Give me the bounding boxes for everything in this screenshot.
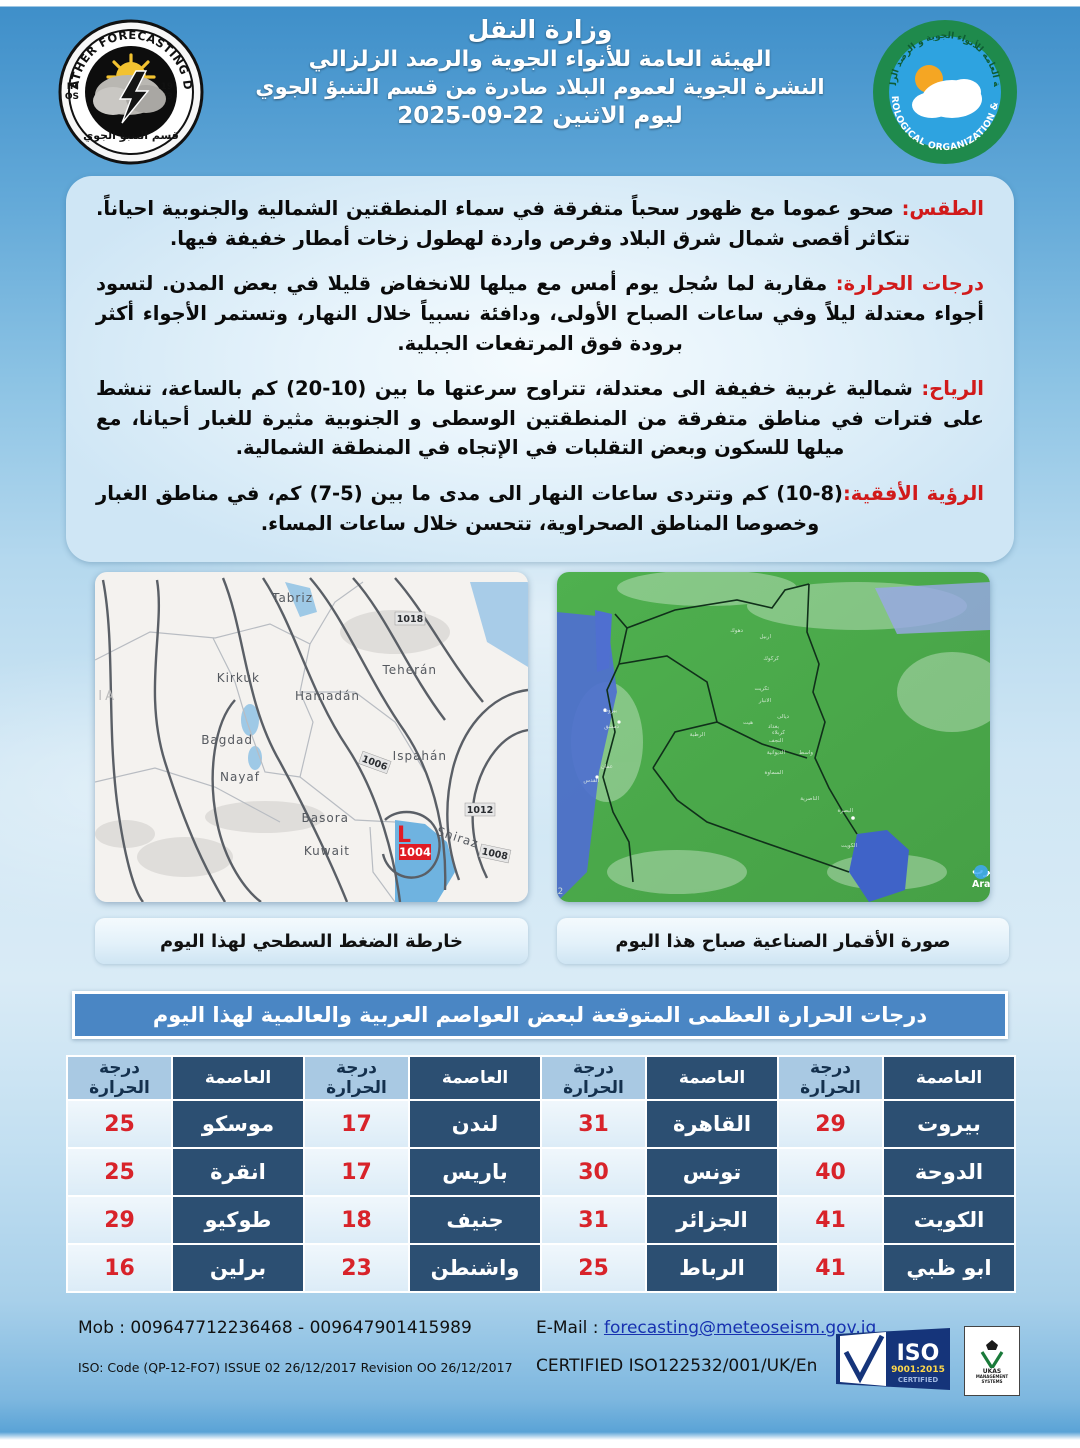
- svg-text:كركوك: كركوك: [763, 655, 779, 662]
- forecast-wind-label: الرياح:: [921, 377, 984, 400]
- forecast-temperature-label: درجات الحرارة:: [836, 272, 984, 295]
- cell-city: واشنطن: [409, 1244, 541, 1292]
- map-region-siria: SIRIA: [95, 689, 117, 704]
- bulletin-page: WEATHER FORECASTING DEPT. IM OS 19 23: [0, 0, 1080, 1448]
- svg-text:الناصرية: الناصرية: [800, 796, 819, 802]
- iso-badge-top: ISO: [897, 1341, 940, 1366]
- cell-city: الدوحة: [883, 1148, 1015, 1196]
- forecast-weather-label: الطقس:: [902, 197, 984, 220]
- isobar-label-1018: 1018: [397, 614, 424, 625]
- cell-city: القاهرة: [646, 1100, 778, 1148]
- cell-city: الجزائر: [646, 1196, 778, 1244]
- cell-temp: 25: [67, 1148, 172, 1196]
- map-city-bagdad: Bagdad: [201, 733, 253, 747]
- forecast-visibility-text: (8-10) كم وتتردى ساعات النهار الى مدى ما…: [96, 482, 843, 535]
- map-city-basora: Basora: [302, 811, 349, 825]
- svg-text:الانبار: الانبار: [758, 698, 772, 704]
- forecast-visibility-paragraph: الرؤية الأفقية:(8-10) كم وتتردى ساعات ال…: [96, 479, 984, 538]
- iso-badge-mid: 9001:2015: [891, 1365, 945, 1375]
- svg-text:الديوانية: الديوانية: [767, 750, 786, 756]
- satellite-image: دهوكاربيل كركوكتكريت الانبارديالى هيتبغد…: [557, 572, 990, 902]
- table-row: الدوحة 40 تونس 30 باريس 17 انقرة 25: [67, 1148, 1015, 1196]
- page-header: WEATHER FORECASTING DEPT. IM OS 19 23: [0, 7, 1080, 173]
- cell-city: برلين: [172, 1244, 304, 1292]
- cell-temp: 17: [304, 1148, 409, 1196]
- forecast-weather-text: صحو عموما مع ظهور سحباً متفرقة في سماء ا…: [96, 197, 910, 250]
- svg-text:ArabiaWeather: ArabiaWeather: [972, 879, 990, 890]
- cell-temp: 16: [67, 1244, 172, 1292]
- email-label: E-Mail :: [536, 1318, 604, 1338]
- authority-title: الهيئة العامة للأنواء الجوية والرصد الزل…: [215, 47, 865, 72]
- temperature-table-title: درجات الحرارة العظمى المتوقعة لبعض العوا…: [72, 991, 1008, 1039]
- forecast-text-panel: الطقس: صحو عموما مع ظهور سحباً متفرقة في…: [66, 176, 1014, 562]
- cell-temp: 31: [541, 1100, 646, 1148]
- cell-temp: 31: [541, 1196, 646, 1244]
- svg-text:الكويت: الكويت: [841, 842, 857, 849]
- cell-temp: 18: [304, 1196, 409, 1244]
- header-temp-4: درجة الحرارة: [67, 1056, 172, 1100]
- isobar-label-1012: 1012: [467, 805, 493, 816]
- svg-text:هيت: هيت: [743, 720, 753, 726]
- forecast-visibility-label: الرؤية الأفقية:: [843, 482, 984, 505]
- cell-city: الكويت: [883, 1196, 1015, 1244]
- cell-temp: 29: [778, 1100, 883, 1148]
- svg-text:البصرة: البصرة: [837, 808, 853, 814]
- svg-text:دمشق: دمشق: [604, 724, 619, 730]
- svg-text:الرطبة: الرطبة: [690, 732, 706, 738]
- satellite-image-caption: صورة الأقمار الصناعية صباح هذا اليوم: [557, 918, 1009, 964]
- ukas-label-bottom: MANAGEMENT SYSTEMS: [965, 1375, 1019, 1385]
- header-temp-2: درجة الحرارة: [541, 1056, 646, 1100]
- forecast-temperature-paragraph: درجات الحرارة: مقاربة لما سُجل يوم أمس م…: [96, 269, 984, 358]
- ministry-title: وزارة النقل: [215, 15, 865, 44]
- weather-forecasting-dept-seal-icon: WEATHER FORECASTING DEPT. IM OS 19 23: [58, 19, 204, 165]
- cell-city: ابو ظبي: [883, 1244, 1015, 1292]
- low-pressure-value: 1004: [399, 845, 431, 859]
- ukas-badge-icon: UKAS MANAGEMENT SYSTEMS: [964, 1326, 1020, 1396]
- arabiaweather-watermark: طقس العرب ArabiaWeather: [972, 863, 990, 890]
- svg-text:19: 19: [160, 82, 173, 92]
- svg-text:اربيل: اربيل: [759, 634, 771, 640]
- header-temp-3: درجة الحرارة: [304, 1056, 409, 1100]
- cell-city: انقرة: [172, 1148, 304, 1196]
- cell-temp: 30: [541, 1148, 646, 1196]
- map-city-kirkuk: Kirkuk: [217, 671, 260, 685]
- svg-text:دهوك: دهوك: [730, 628, 743, 634]
- pressure-map-caption: خارطة الضغط السطحي لهذا اليوم: [95, 918, 528, 964]
- forecast-wind-text: شمالية غربية خفيفة الى معتدلة، تتراوح سر…: [96, 377, 984, 459]
- cell-city: طوكيو: [172, 1196, 304, 1244]
- iraq-meteorological-organization-seal-icon: IRAQ METEOROLOGICAL ORGANIZATION & SEISM…: [872, 19, 1018, 165]
- cell-temp: 17: [304, 1100, 409, 1148]
- header-temp-1: درجة الحرارة: [778, 1056, 883, 1100]
- svg-text:OS: OS: [65, 92, 79, 102]
- svg-text:السماوة: السماوة: [764, 770, 783, 776]
- bulletin-subtitle: النشرة الجوية لعموم البلاد صادرة من قسم …: [215, 75, 865, 99]
- svg-text:عمان: عمان: [601, 764, 613, 770]
- cell-temp: 25: [67, 1100, 172, 1148]
- satellite-timestamp: 2025-09-22 04:30:00 UTC: [557, 887, 563, 897]
- map-city-ispahan: Ispahán: [393, 749, 447, 763]
- table-row: بيروت 29 القاهرة 31 لندن 17 موسكو 25: [67, 1100, 1015, 1148]
- map-city-teheran: Teherán: [381, 663, 437, 677]
- header-city-3: العاصمة: [409, 1056, 541, 1100]
- svg-text:IM: IM: [67, 82, 79, 92]
- map-city-kuwait: Kuwait: [304, 844, 350, 858]
- iso-badge-bottom: CERTIFIED: [898, 1376, 939, 1384]
- header-city-2: العاصمة: [646, 1056, 778, 1100]
- map-city-tabriz: Tabriz: [271, 591, 313, 605]
- table-row: ابو ظبي 41 الرباط 25 واشنطن 23 برلين 16: [67, 1244, 1015, 1292]
- cell-city: بيروت: [883, 1100, 1015, 1148]
- svg-text:قسم التنبؤ الجوي: قسم التنبؤ الجوي: [83, 129, 179, 142]
- svg-text:كربلاء: كربلاء: [772, 729, 785, 736]
- map-city-nayaf: Nayaf: [220, 770, 260, 784]
- svg-text:النجف: النجف: [769, 738, 784, 744]
- cell-temp: 23: [304, 1244, 409, 1292]
- table-row: الكويت 41 الجزائر 31 جنيف 18 طوكيو 29: [67, 1196, 1015, 1244]
- svg-text:تكريت: تكريت: [754, 685, 769, 692]
- map-city-hamadan: Hamadán: [295, 689, 360, 703]
- cell-city: تونس: [646, 1148, 778, 1196]
- capital-temperatures-table: العاصمة درجة الحرارة العاصمة درجة الحرار…: [66, 1055, 1016, 1293]
- header-city-1: العاصمة: [883, 1056, 1015, 1100]
- forecast-wind-paragraph: الرياح: شمالية غربية خفيفة الى معتدلة، ت…: [96, 374, 984, 463]
- cell-temp: 29: [67, 1196, 172, 1244]
- svg-text:ديالى: ديالى: [777, 714, 789, 720]
- surface-pressure-map: 1018 1006 1012 1008 Tabriz Kirkuk Teherá…: [95, 572, 528, 902]
- bulletin-date: ليوم الاثنين 22-09-2025: [215, 103, 865, 129]
- svg-text:القدس: القدس: [583, 778, 599, 784]
- cell-temp: 40: [778, 1148, 883, 1196]
- svg-text:واسط: واسط: [799, 750, 813, 756]
- cell-temp: 41: [778, 1196, 883, 1244]
- forecast-weather-paragraph: الطقس: صحو عموما مع ظهور سحباً متفرقة في…: [96, 194, 984, 253]
- cell-city: الرباط: [646, 1244, 778, 1292]
- cell-temp: 25: [541, 1244, 646, 1292]
- page-footer: Mob : 009647712236468 - 009647901415989 …: [66, 1308, 1014, 1408]
- header-title-block: وزارة النقل الهيئة العامة للأنواء الجوية…: [215, 15, 865, 129]
- cell-city: جنيف: [409, 1196, 541, 1244]
- cell-city: باريس: [409, 1148, 541, 1196]
- cell-city: لندن: [409, 1100, 541, 1148]
- cell-city: موسكو: [172, 1100, 304, 1148]
- table-header-row: العاصمة درجة الحرارة العاصمة درجة الحرار…: [67, 1056, 1015, 1100]
- iso-9001-badge-icon: ISO 9001:2015 CERTIFIED: [834, 1326, 952, 1392]
- header-city-4: العاصمة: [172, 1056, 304, 1100]
- cell-temp: 41: [778, 1244, 883, 1292]
